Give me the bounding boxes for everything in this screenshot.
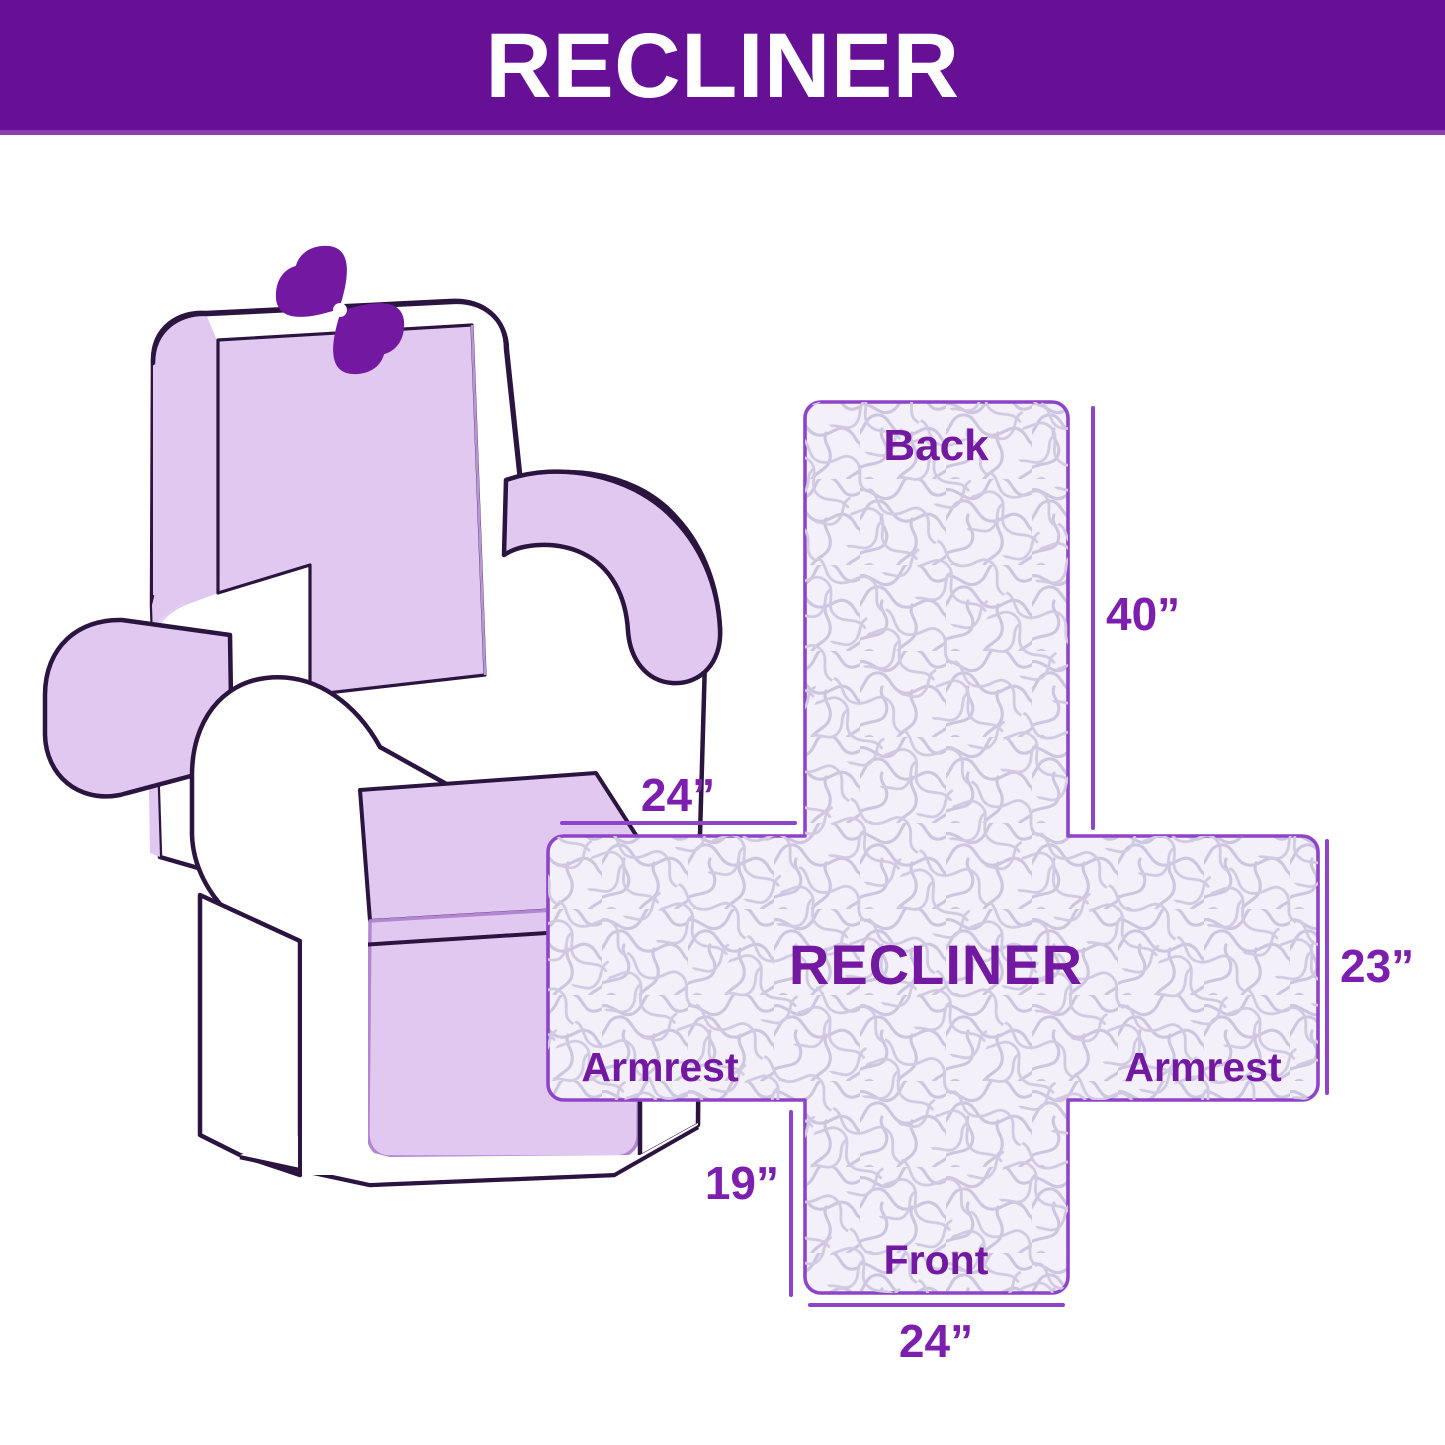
chair-base-left (200, 895, 300, 1175)
dimension-armrest-depth: 23” (1327, 841, 1414, 1093)
diagram-artwork: Back RECLINER Armrest Armrest Front 40” … (0, 135, 1445, 1445)
chair-left-inner-shadow (300, 935, 368, 1175)
dimension-front-height: 19” (705, 1112, 791, 1295)
label-front: Front (884, 1237, 989, 1283)
dimension-front-width-label: 24” (899, 1315, 973, 1367)
dimension-front-width: 24” (810, 1305, 1063, 1367)
dimension-back-height-label: 40” (1106, 588, 1180, 640)
page-title: RECLINER (0, 14, 1445, 118)
dimension-back-height: 40” (1093, 408, 1180, 828)
product-size-chart-page: RECLINER (0, 0, 1445, 1445)
dimension-armrest-depth-label: 23” (1340, 940, 1414, 992)
dimension-back-width-label: 24” (641, 769, 715, 821)
label-armrest-right: Armrest (1124, 1044, 1282, 1090)
label-armrest-left: Armrest (581, 1044, 739, 1090)
label-back: Back (883, 421, 989, 470)
dimension-front-height-label: 19” (705, 1157, 779, 1209)
label-recliner-center: RECLINER (789, 933, 1083, 996)
